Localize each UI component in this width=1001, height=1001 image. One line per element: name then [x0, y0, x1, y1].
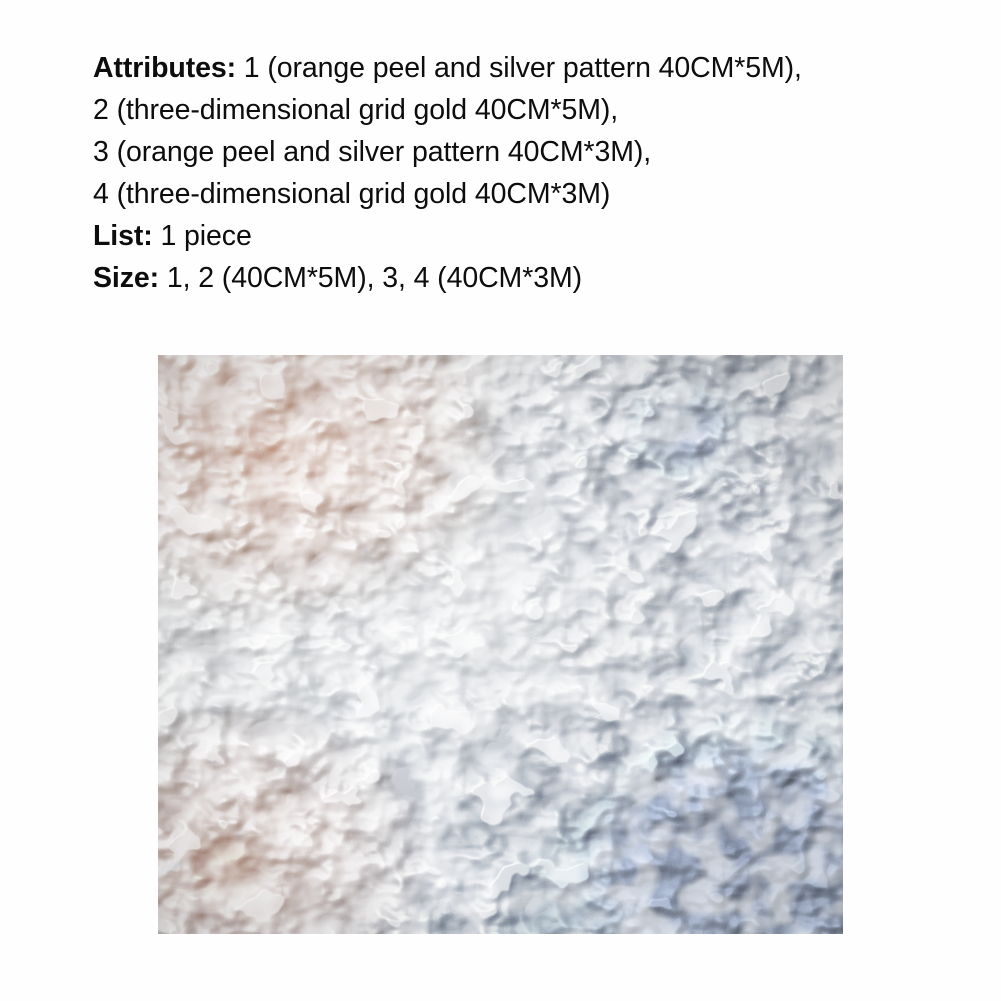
product-specification-block: Attributes: 1 (orange peel and silver pa… [93, 47, 963, 299]
spec-line-list: List: 1 piece [93, 215, 963, 257]
foil-vignette [158, 355, 843, 934]
spec-value-attributes-4: 4 (three-dimensional grid gold 40CM*3M) [93, 178, 610, 210]
spec-value-list: 1 piece [153, 220, 252, 252]
spec-value-size: 1, 2 (40CM*5M), 3, 4 (40CM*3M) [159, 262, 582, 294]
spec-value-attributes-1: 1 (orange peel and silver pattern 40CM*5… [236, 52, 802, 84]
product-photo [158, 355, 843, 934]
spec-value-attributes-2: 2 (three-dimensional grid gold 40CM*5M), [93, 94, 618, 126]
spec-label-attributes: Attributes: [93, 52, 236, 84]
spec-line-attributes: Attributes: 1 (orange peel and silver pa… [93, 47, 963, 89]
spec-value-attributes-3: 3 (orange peel and silver pattern 40CM*3… [93, 136, 651, 168]
spec-line-size: Size: 1, 2 (40CM*5M), 3, 4 (40CM*3M) [93, 257, 963, 299]
spec-label-size: Size: [93, 262, 159, 294]
document-page: Attributes: 1 (orange peel and silver pa… [0, 0, 1001, 1001]
spec-line-attribute-2: 2 (three-dimensional grid gold 40CM*5M), [93, 89, 963, 131]
spec-line-attribute-4: 4 (three-dimensional grid gold 40CM*3M) [93, 173, 963, 215]
spec-label-list: List: [93, 220, 153, 252]
spec-line-attribute-3: 3 (orange peel and silver pattern 40CM*3… [93, 131, 963, 173]
